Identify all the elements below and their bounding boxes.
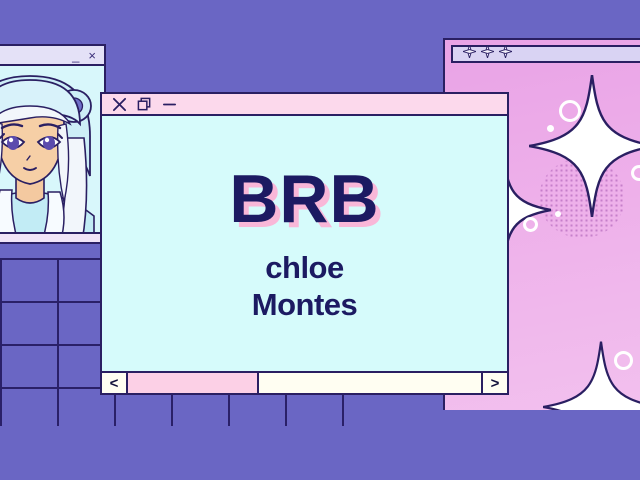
- scrollbar-thumb[interactable]: [128, 373, 259, 393]
- scrollbar-track[interactable]: [128, 373, 481, 393]
- sparkle-window-titlebar[interactable]: [451, 45, 640, 63]
- screen: _ ×: [0, 0, 640, 480]
- close-icon[interactable]: ×: [88, 49, 96, 62]
- close-icon[interactable]: [112, 97, 127, 112]
- ring-circle-icon: [614, 351, 633, 370]
- sparkle-diamond-icon: [481, 45, 494, 63]
- page-title: BRB: [229, 165, 379, 233]
- ring-circle-icon: [559, 100, 581, 122]
- avatar: [0, 66, 104, 242]
- ring-circle-icon: [523, 217, 538, 232]
- minimize-icon[interactable]: _: [72, 49, 79, 62]
- small-dot-icon: [555, 211, 561, 217]
- small-dot-icon: [601, 375, 608, 382]
- minimize-icon[interactable]: [162, 97, 177, 112]
- subtitle-line-1: chloe: [265, 251, 343, 286]
- scroll-right-button[interactable]: >: [481, 373, 507, 393]
- scroll-left-button[interactable]: <: [102, 373, 128, 393]
- brb-window-titlebar[interactable]: [102, 94, 507, 116]
- avatar-window-titlebar[interactable]: _ ×: [0, 46, 104, 66]
- brb-window-content: BRB chloe Montes: [102, 116, 507, 371]
- small-dot-icon: [547, 125, 554, 132]
- brb-window[interactable]: BRB chloe Montes < >: [100, 92, 509, 395]
- sparkle-diamond-icon: [463, 45, 476, 63]
- restore-icon[interactable]: [137, 97, 152, 112]
- ring-circle-icon: [631, 165, 640, 181]
- horizontal-scrollbar[interactable]: < >: [102, 371, 507, 393]
- sparkle-diamond-icon: [499, 45, 512, 63]
- avatar-window-footer: [0, 232, 104, 242]
- avatar-window[interactable]: _ ×: [0, 44, 106, 244]
- subtitle-line-2: Montes: [252, 288, 358, 323]
